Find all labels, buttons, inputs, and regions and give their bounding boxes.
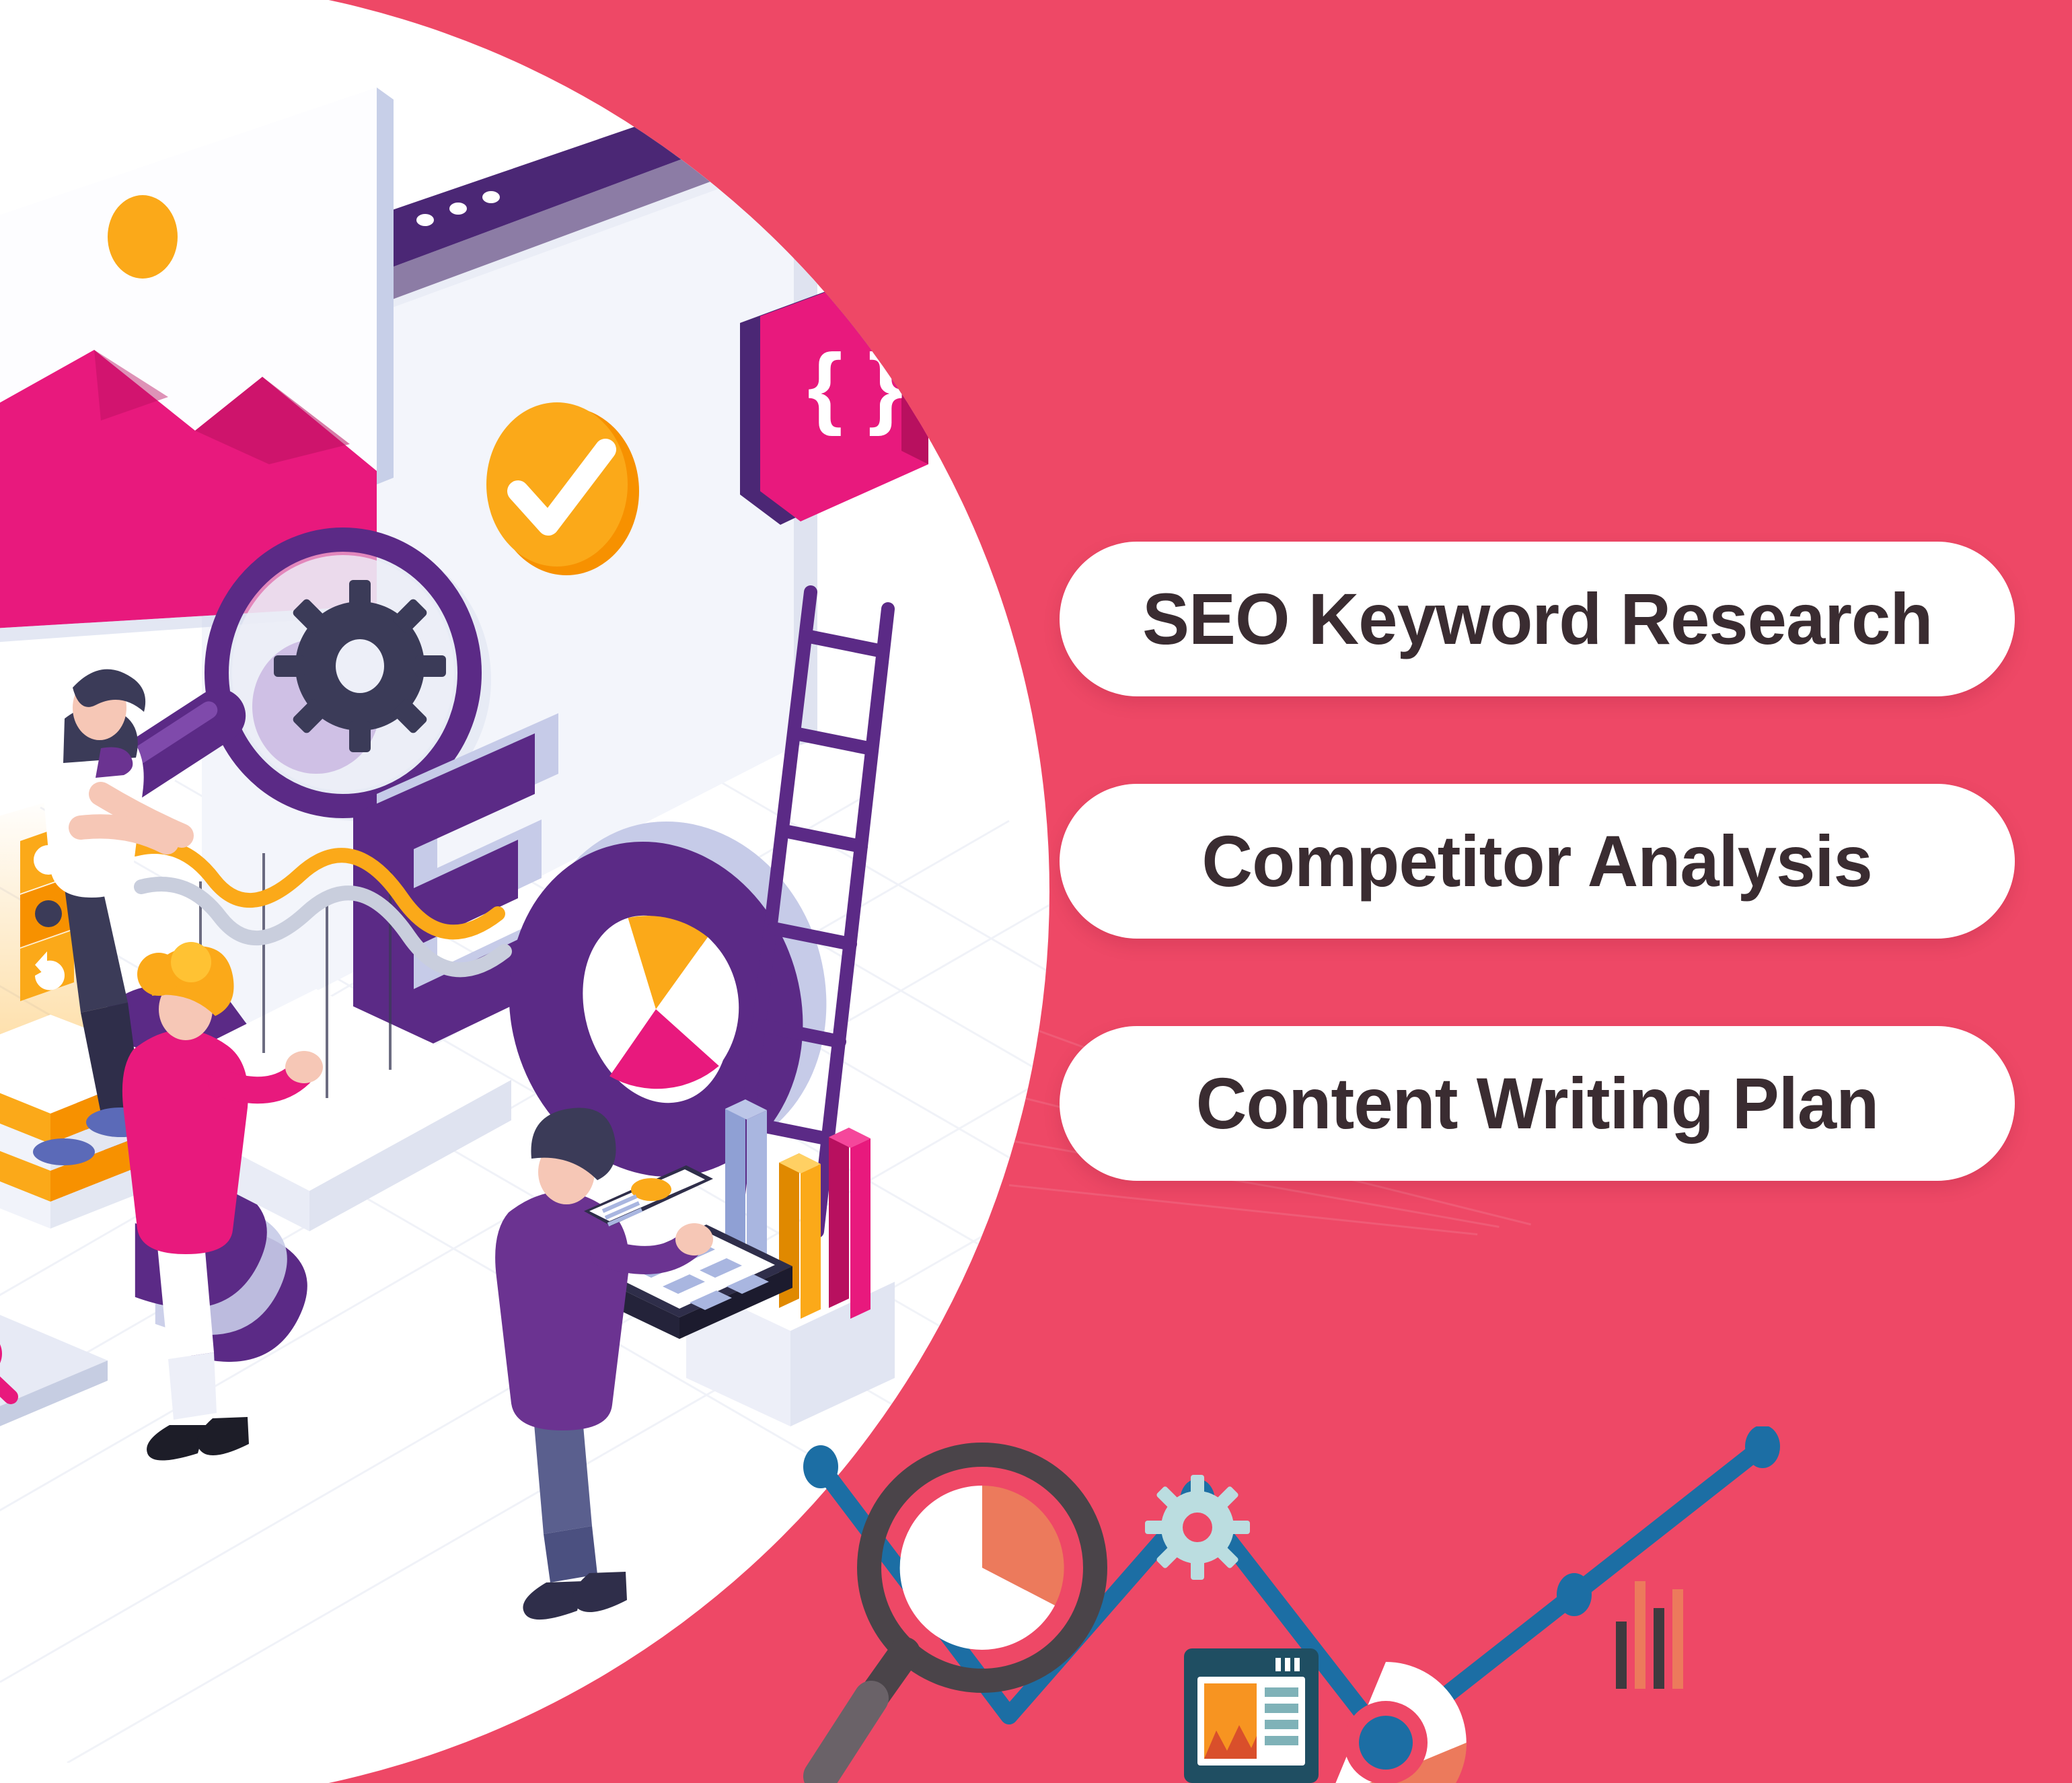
service-pill-label: SEO Keyword Research <box>1142 583 1932 655</box>
person-with-tablet <box>495 1107 713 1620</box>
window-dot <box>416 214 434 226</box>
pie-chart <box>900 1486 1064 1650</box>
window-dot <box>482 191 500 203</box>
service-pill-label: Competitor Analysis <box>1202 825 1872 898</box>
service-pill-content-writing-plan[interactable]: Content Writing Plan <box>1060 1026 2015 1181</box>
service-pill-competitor-analysis[interactable]: Competitor Analysis <box>1060 784 2015 939</box>
service-pill-label: Content Writing Plan <box>1196 1067 1879 1140</box>
floor-tile-magnifier <box>0 1312 108 1429</box>
donut-target-icon <box>1329 1662 1467 1783</box>
trend-node <box>1557 1573 1592 1616</box>
mini-bar-chart <box>1616 1581 1683 1689</box>
service-pill-list: SEO Keyword Research Competitor Analysis… <box>1060 542 2015 1268</box>
gear-icon <box>274 580 446 752</box>
window-dot <box>449 203 467 215</box>
analytics-decoration <box>794 1426 2072 1783</box>
service-pill-seo-keyword-research[interactable]: SEO Keyword Research <box>1060 542 2015 696</box>
trend-node <box>803 1445 838 1488</box>
magnifier-pie-icon <box>821 1455 1095 1776</box>
sun-icon <box>108 195 178 279</box>
poster-canvas: { } <box>0 0 2072 1783</box>
dashboard-window-icon <box>1184 1648 1319 1783</box>
gear-icon <box>35 900 62 927</box>
code-braces-glyph: { } <box>807 335 903 437</box>
trend-node <box>1745 1426 1780 1468</box>
gear-icon <box>1145 1475 1250 1580</box>
